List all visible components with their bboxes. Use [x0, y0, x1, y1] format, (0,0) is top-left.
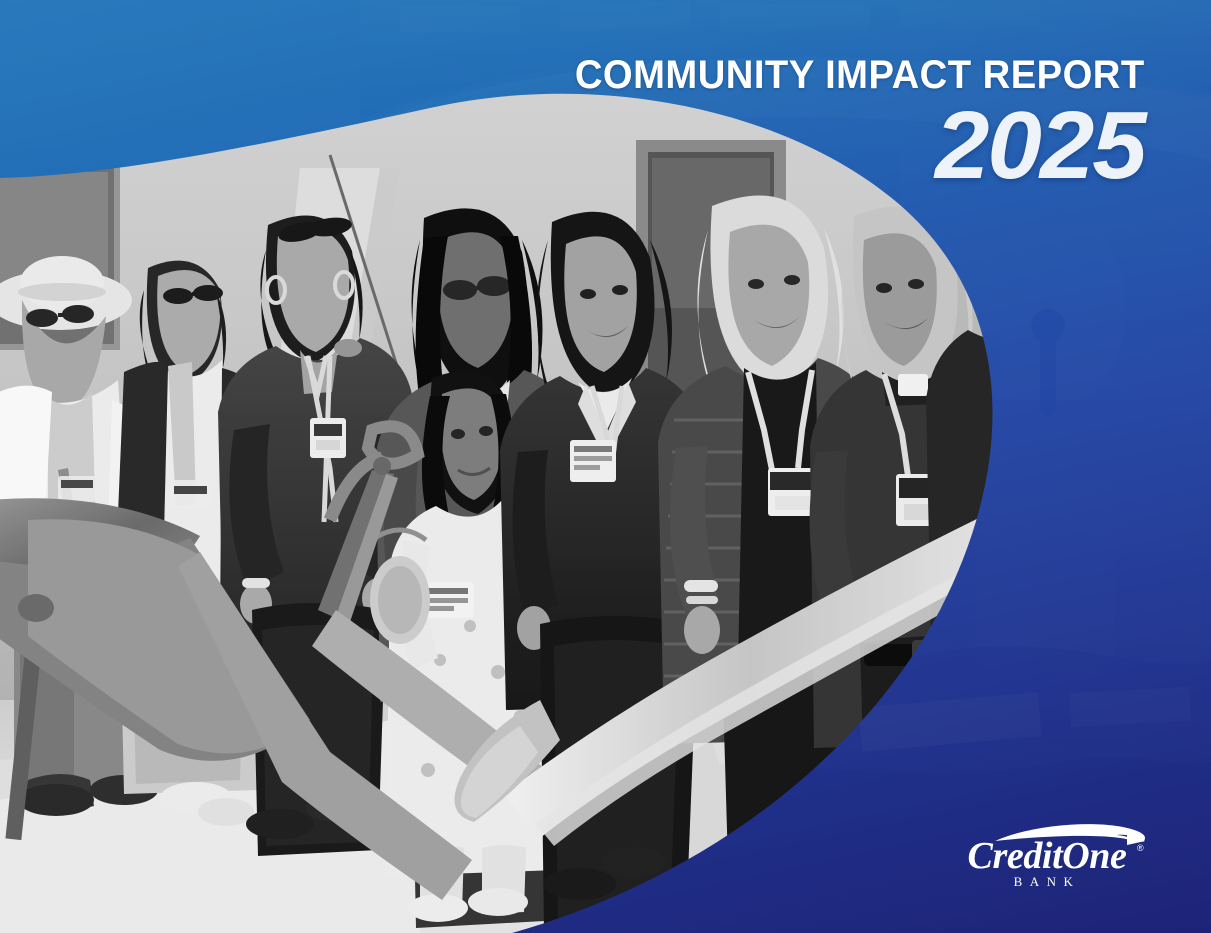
cover-title-block: COMMUNITY IMPACT REPORT 2025: [548, 52, 1145, 188]
logo-artwork: CreditOne ® BANK: [931, 815, 1163, 891]
report-year: 2025: [536, 104, 1145, 188]
svg-text:®: ®: [1137, 843, 1144, 853]
svg-text:BANK: BANK: [1014, 874, 1081, 889]
report-cover-page: COMMUNITY IMPACT REPORT 2025 CreditOne ®…: [0, 0, 1211, 933]
credit-one-bank-logo: CreditOne ® BANK CreditOne B A N K ®: [931, 815, 1163, 891]
svg-text:CreditOne: CreditOne: [968, 835, 1127, 877]
